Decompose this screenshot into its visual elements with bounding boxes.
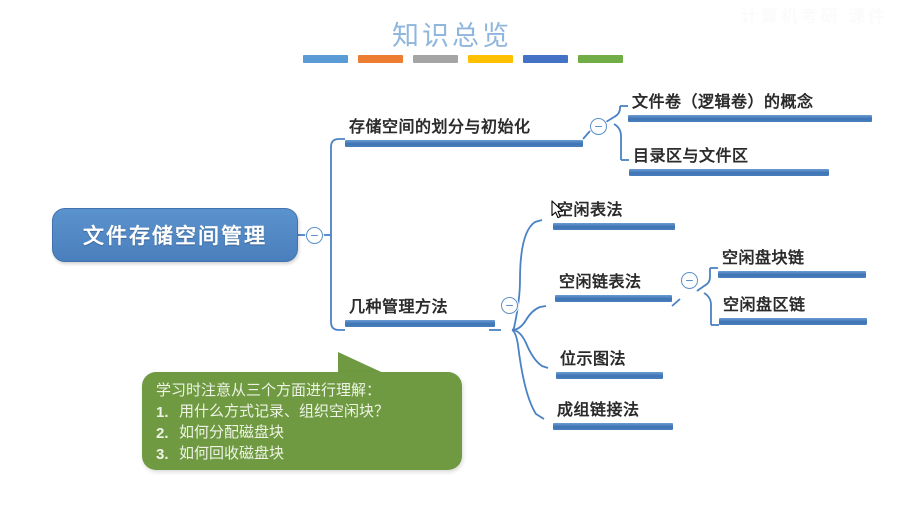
title-bar-blue-dark: [523, 55, 568, 63]
node-underline-bar: [345, 140, 583, 147]
node-label: 空闲链表法: [555, 268, 672, 293]
node-free-block-chain[interactable]: 空闲盘块链: [718, 244, 866, 278]
callout-item-text: 如何分配磁盘块: [179, 423, 284, 444]
node-free-extent-chain[interactable]: 空闲盘区链: [719, 291, 867, 325]
callout-item-number: 3.: [156, 444, 172, 465]
node-underline-bar: [628, 115, 872, 122]
node-label: 空闲盘块链: [718, 244, 866, 269]
branch-methods-collapse-toggle[interactable]: [501, 297, 518, 314]
page-title: 知识总览: [0, 14, 904, 53]
node-label: 成组链接法: [553, 396, 673, 421]
node-directory-and-file-area[interactable]: 目录区与文件区: [629, 142, 829, 176]
node-label: 位示图法: [556, 345, 663, 370]
node-underline-bar: [345, 320, 495, 327]
node-underline-bar: [718, 271, 866, 278]
node-free-list-collapse-toggle[interactable]: [681, 272, 698, 289]
node-storage-partition-init[interactable]: 存储空间的划分与初始化: [345, 113, 583, 147]
root-node-label: 文件存储空间管理: [83, 220, 267, 250]
node-free-list-method[interactable]: 空闲链表法: [555, 268, 672, 302]
callout-item-number: 2.: [156, 423, 172, 444]
node-file-volume-concept[interactable]: 文件卷（逻辑卷）的概念: [628, 88, 872, 122]
callout-item: 3. 如何回收磁盘块: [156, 444, 448, 465]
node-underline-bar: [719, 318, 867, 325]
title-decoration-bars: [303, 55, 623, 64]
node-grouped-linking-method[interactable]: 成组链接法: [553, 396, 673, 430]
branch-storage-collapse-toggle[interactable]: [590, 118, 607, 135]
title-bar-blue-light: [303, 55, 348, 63]
title-bar-yellow: [468, 55, 513, 63]
title-bar-orange: [358, 55, 403, 63]
title-bar-gray: [413, 55, 458, 63]
title-bar-green: [578, 55, 623, 63]
node-label: 目录区与文件区: [629, 142, 829, 167]
callout-item: 1. 用什么方式记录、组织空闲块？: [156, 402, 448, 423]
callout-item: 2. 如何分配磁盘块: [156, 423, 448, 444]
node-label: 存储空间的划分与初始化: [345, 113, 583, 138]
callout-heading: 学习时注意从三个方面进行理解：: [156, 381, 448, 402]
node-underline-bar: [555, 295, 672, 302]
node-label: 空闲表法: [553, 196, 675, 221]
callout-item-text: 用什么方式记录、组织空闲块？: [179, 402, 389, 423]
callout-item-text: 如何回收磁盘块: [179, 444, 284, 465]
mindmap-canvas: 计算机考研 课件 知识总览: [0, 0, 904, 511]
node-underline-bar: [556, 372, 663, 379]
node-label: 空闲盘区链: [719, 291, 867, 316]
node-label: 文件卷（逻辑卷）的概念: [628, 88, 872, 113]
node-free-table-method[interactable]: 空闲表法: [553, 196, 675, 230]
callout-item-number: 1.: [156, 402, 172, 423]
node-label: 几种管理方法: [345, 293, 495, 318]
study-note-callout: 学习时注意从三个方面进行理解： 1. 用什么方式记录、组织空闲块？ 2. 如何分…: [142, 372, 462, 470]
node-bitmap-method[interactable]: 位示图法: [556, 345, 663, 379]
root-node[interactable]: 文件存储空间管理: [52, 208, 298, 262]
root-collapse-toggle[interactable]: [306, 227, 323, 244]
node-underline-bar: [629, 169, 829, 176]
node-underline-bar: [553, 423, 673, 430]
node-management-methods[interactable]: 几种管理方法: [345, 293, 495, 327]
mouse-cursor-icon: [551, 200, 564, 219]
node-underline-bar: [553, 223, 675, 230]
